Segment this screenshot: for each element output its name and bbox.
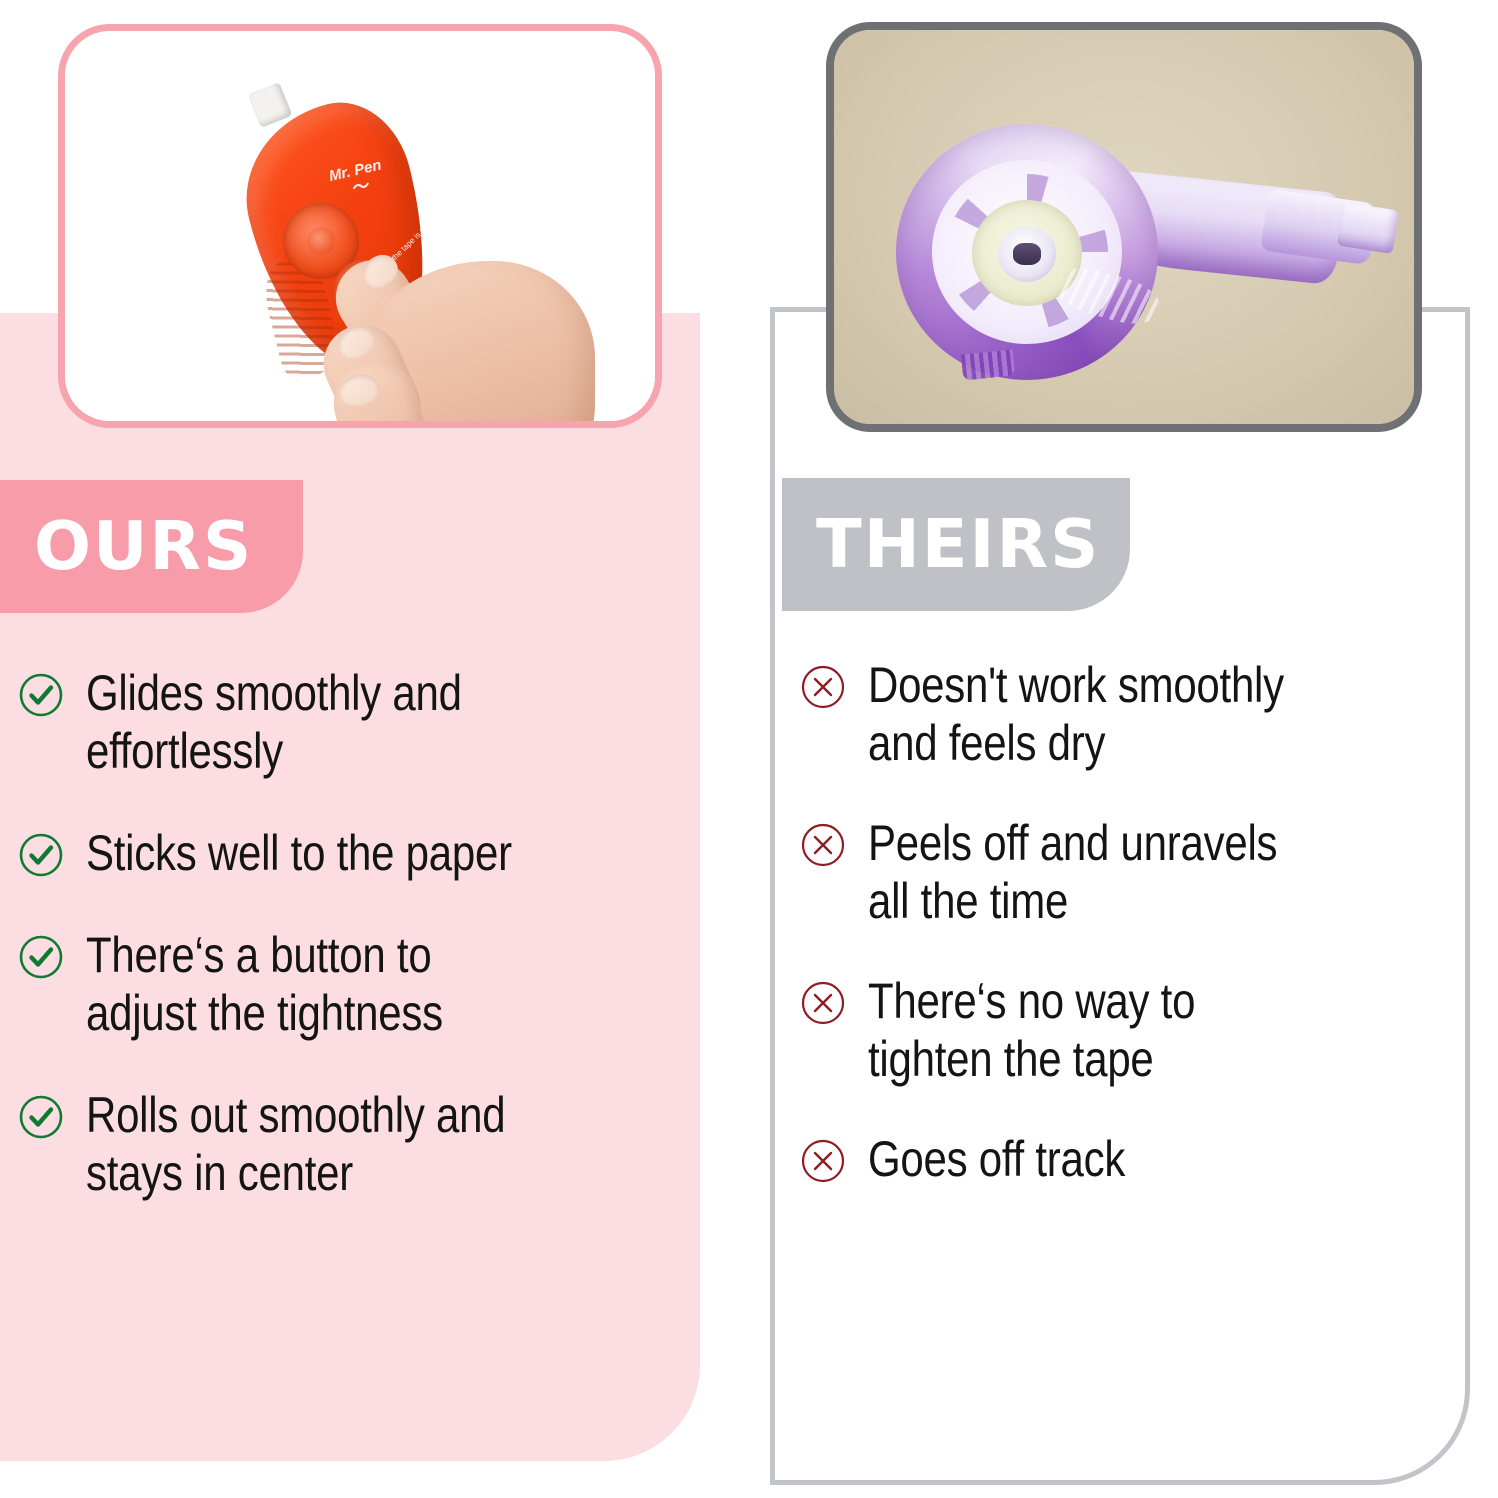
list-item: Glides smoothly and effortlessly — [18, 664, 686, 780]
theirs-product-photo — [834, 30, 1414, 424]
check-circle-icon — [18, 934, 64, 980]
roller-core — [998, 226, 1056, 282]
ours-banner: OURS — [0, 480, 303, 613]
theirs-photo-background — [834, 30, 1414, 424]
feature-text: Doesn't work smoothly and feels dry — [868, 656, 1372, 772]
feature-text: Rolls out smoothly and stays in center — [86, 1086, 590, 1202]
x-circle-icon — [800, 822, 846, 868]
feature-text: Sticks well to the paper — [86, 824, 590, 882]
roller-notch — [961, 349, 1015, 380]
check-circle-icon — [18, 672, 64, 718]
comparison-infographic: Mr. Pen 〜 Turn until the tape is tight O… — [0, 0, 1498, 1498]
x-circle-icon — [800, 1138, 846, 1184]
theirs-banner: THEIRS — [782, 478, 1130, 611]
check-circle-icon — [18, 832, 64, 878]
list-item: Doesn't work smoothly and feels dry — [800, 656, 1468, 772]
roller-applicator-tip — [1337, 202, 1399, 254]
ours-product-photo: Mr. Pen 〜 Turn until the tape is tight — [65, 31, 655, 421]
correction-tape-tip — [247, 82, 292, 128]
theirs-banner-label: THEIRS — [816, 511, 1100, 578]
feature-text: Glides smoothly and effortlessly — [86, 664, 590, 780]
check-circle-icon — [18, 1094, 64, 1140]
ours-photo-background: Mr. Pen 〜 Turn until the tape is tight — [65, 31, 655, 421]
feature-text: Goes off track — [868, 1130, 1372, 1188]
feature-text: There‘s a button to adjust the tightness — [86, 926, 590, 1042]
list-item: Goes off track — [800, 1130, 1468, 1188]
feature-text: Peels off and unravels all the time — [868, 814, 1372, 930]
ours-banner-label: OURS — [34, 513, 253, 580]
list-item: Sticks well to the paper — [18, 824, 686, 882]
list-item: There‘s a button to adjust the tightness — [18, 926, 686, 1042]
x-circle-icon — [800, 980, 846, 1026]
ours-product-image-card: Mr. Pen 〜 Turn until the tape is tight — [58, 24, 662, 428]
theirs-feature-list: Doesn't work smoothly and feels dry Peel… — [800, 656, 1468, 1188]
ours-feature-list: Glides smoothly and effortlessly Sticks … — [18, 664, 686, 1202]
theirs-product-image-card — [826, 22, 1422, 432]
x-circle-icon — [800, 664, 846, 710]
list-item: There‘s no way to tighten the tape — [800, 972, 1468, 1088]
feature-text: There‘s no way to tighten the tape — [868, 972, 1372, 1088]
list-item: Peels off and unravels all the time — [800, 814, 1468, 930]
list-item: Rolls out smoothly and stays in center — [18, 1086, 686, 1202]
